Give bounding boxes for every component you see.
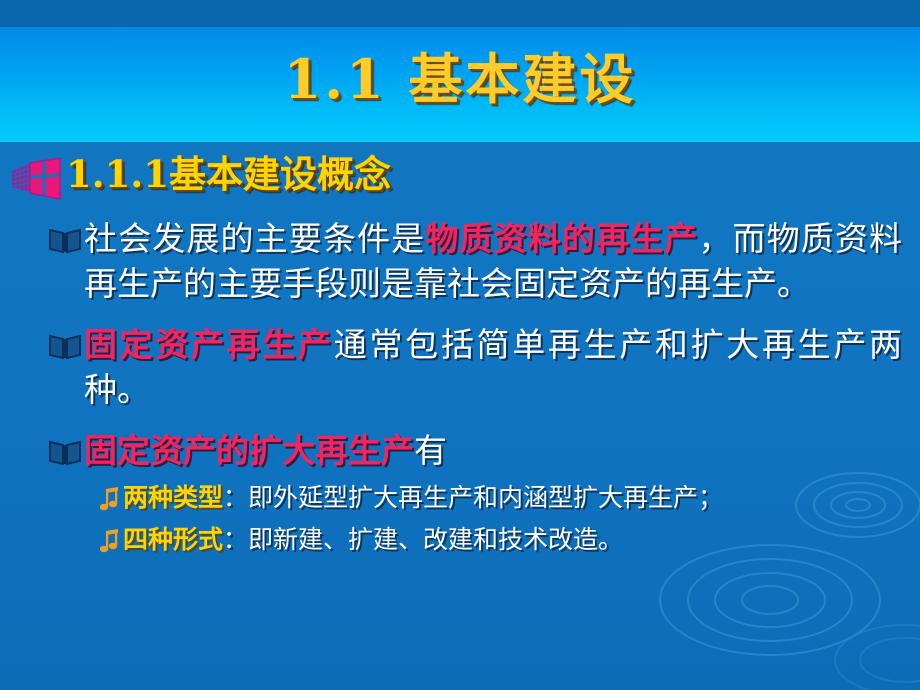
bullet-item: 固定资产的扩大再生产有 bbox=[48, 428, 902, 473]
bullet-text: 固定资产的扩大再生产有 bbox=[84, 428, 447, 473]
sub-bullet-item: 四种形式：即新建、扩建、改建和技术改造。 bbox=[100, 523, 920, 557]
sub-bullet-text: 四种形式：即新建、扩建、改建和技术改造。 bbox=[123, 523, 623, 557]
sub-bullet-rest: ：即新建、扩建、改建和技术改造。 bbox=[223, 525, 623, 554]
presentation-slide: 1.1 基本建设 bbox=[0, 0, 920, 690]
sub-bullet-lead: 四种形式 bbox=[123, 525, 223, 554]
slide-body: 1.1.1基本建设概念 社会发展的主要条件是物质资料的再生产，而物质资料再生产的… bbox=[0, 150, 920, 557]
bullet-segment: 社会发展的主要条件是 bbox=[84, 219, 425, 258]
music-note-icon bbox=[100, 487, 122, 513]
top-strip bbox=[0, 0, 920, 27]
bullet-text: 社会发展的主要条件是物质资料的再生产，而物质资料再生产的主要手段则是靠社会固定资… bbox=[84, 216, 902, 306]
windows-flag-icon bbox=[10, 158, 64, 200]
bullet-segment: 有 bbox=[414, 431, 447, 470]
open-book-icon bbox=[48, 225, 82, 255]
section-heading: 1.1.1基本建设概念 bbox=[66, 150, 391, 198]
bullet-segment-highlight: 固定资产再生产 bbox=[84, 325, 334, 364]
open-book-icon bbox=[48, 331, 82, 361]
bullet-item: 社会发展的主要条件是物质资料的再生产，而物质资料再生产的主要手段则是靠社会固定资… bbox=[48, 216, 902, 306]
bullet-segment-highlight: 物质资料的再生产 bbox=[425, 219, 698, 258]
sub-bullet-item: 两种类型：即外延型扩大再生产和内涵型扩大再生产； bbox=[100, 481, 920, 515]
sub-bullet-rest: ：即外延型扩大再生产和内涵型扩大再生产； bbox=[223, 483, 723, 512]
slide-title: 1.1 基本建设 bbox=[0, 47, 920, 111]
section-heading-row: 1.1.1基本建设概念 bbox=[0, 150, 920, 200]
open-book-icon bbox=[48, 437, 82, 467]
bullet-item: 固定资产再生产通常包括简单再生产和扩大再生产两种。 bbox=[48, 322, 902, 412]
music-note-icon bbox=[100, 529, 122, 555]
sub-bullet-lead: 两种类型 bbox=[123, 483, 223, 512]
bullet-segment-highlight: 固定资产的扩大再生产 bbox=[84, 431, 414, 470]
sub-bullet-text: 两种类型：即外延型扩大再生产和内涵型扩大再生产； bbox=[123, 481, 723, 515]
bullet-text: 固定资产再生产通常包括简单再生产和扩大再生产两种。 bbox=[84, 322, 902, 412]
